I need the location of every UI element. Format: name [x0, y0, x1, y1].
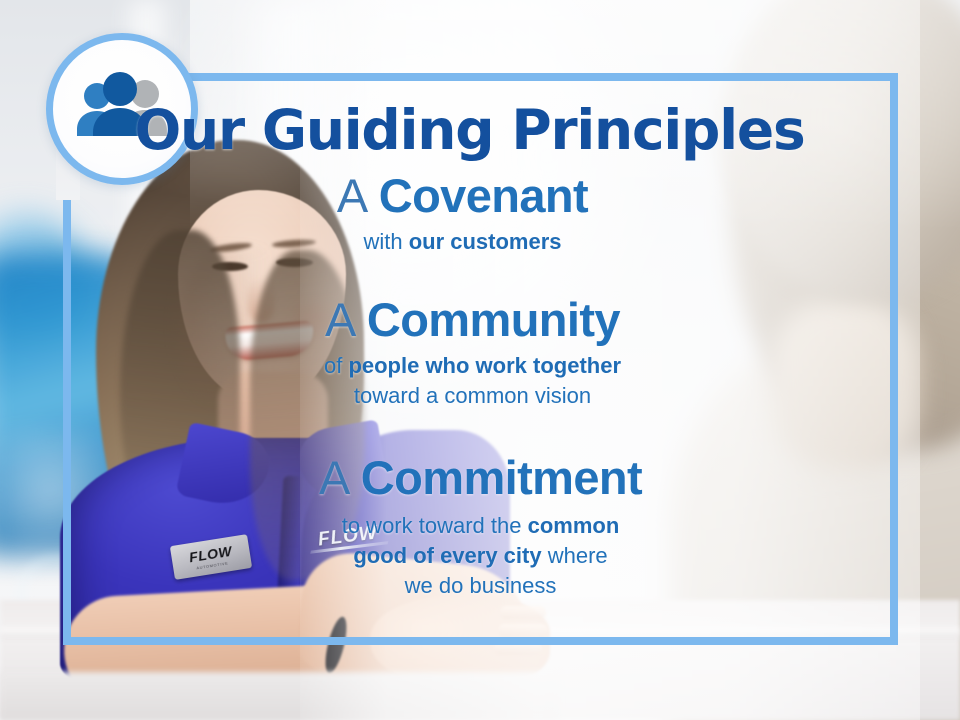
principle-commitment-sub-suffix: where	[542, 543, 608, 568]
principle-commitment: A Commitment to work toward the common g…	[63, 453, 898, 600]
principle-commitment-keyword: Commitment	[361, 451, 642, 504]
principle-covenant-keyword: Covenant	[379, 169, 588, 222]
photo-desk-foreground	[0, 672, 560, 720]
principle-covenant-sub-prefix: with	[363, 229, 408, 254]
principle-covenant-article: A	[337, 169, 366, 222]
principle-community-sub-bold: people who work together	[348, 353, 621, 378]
principle-commitment-article: A	[319, 451, 348, 504]
principle-community: A Community of people who work together …	[63, 295, 882, 411]
principle-commitment-sub-line3: we do business	[405, 573, 557, 598]
principle-commitment-heading: A Commitment	[63, 453, 898, 502]
page-title: Our Guiding Principles	[63, 98, 876, 162]
principle-community-sub-prefix: of	[324, 353, 348, 378]
principle-commitment-sub-bold1: common	[528, 513, 620, 538]
principle-community-heading: A Community	[63, 295, 882, 344]
principle-covenant-heading: A Covenant	[63, 171, 862, 220]
principle-covenant-subtitle: with our customers	[63, 227, 862, 257]
principle-community-keyword: Community	[367, 293, 620, 346]
principle-commitment-sub-bold2: good of every city	[353, 543, 541, 568]
marketing-graphic: FLOW FLOW AUTOMOTIVE	[0, 0, 960, 720]
text-content: Our Guiding Principles A Covenant with o…	[63, 73, 898, 645]
principle-community-sub-line2: toward a common vision	[354, 383, 591, 408]
principle-commitment-subtitle: to work toward the common good of every …	[63, 511, 898, 600]
principle-community-subtitle: of people who work together toward a com…	[63, 351, 882, 410]
principle-covenant: A Covenant with our customers	[63, 171, 862, 257]
principle-community-article: A	[325, 293, 354, 346]
principle-commitment-sub-prefix: to work toward the	[342, 513, 528, 538]
principle-covenant-sub-bold: our customers	[409, 229, 562, 254]
